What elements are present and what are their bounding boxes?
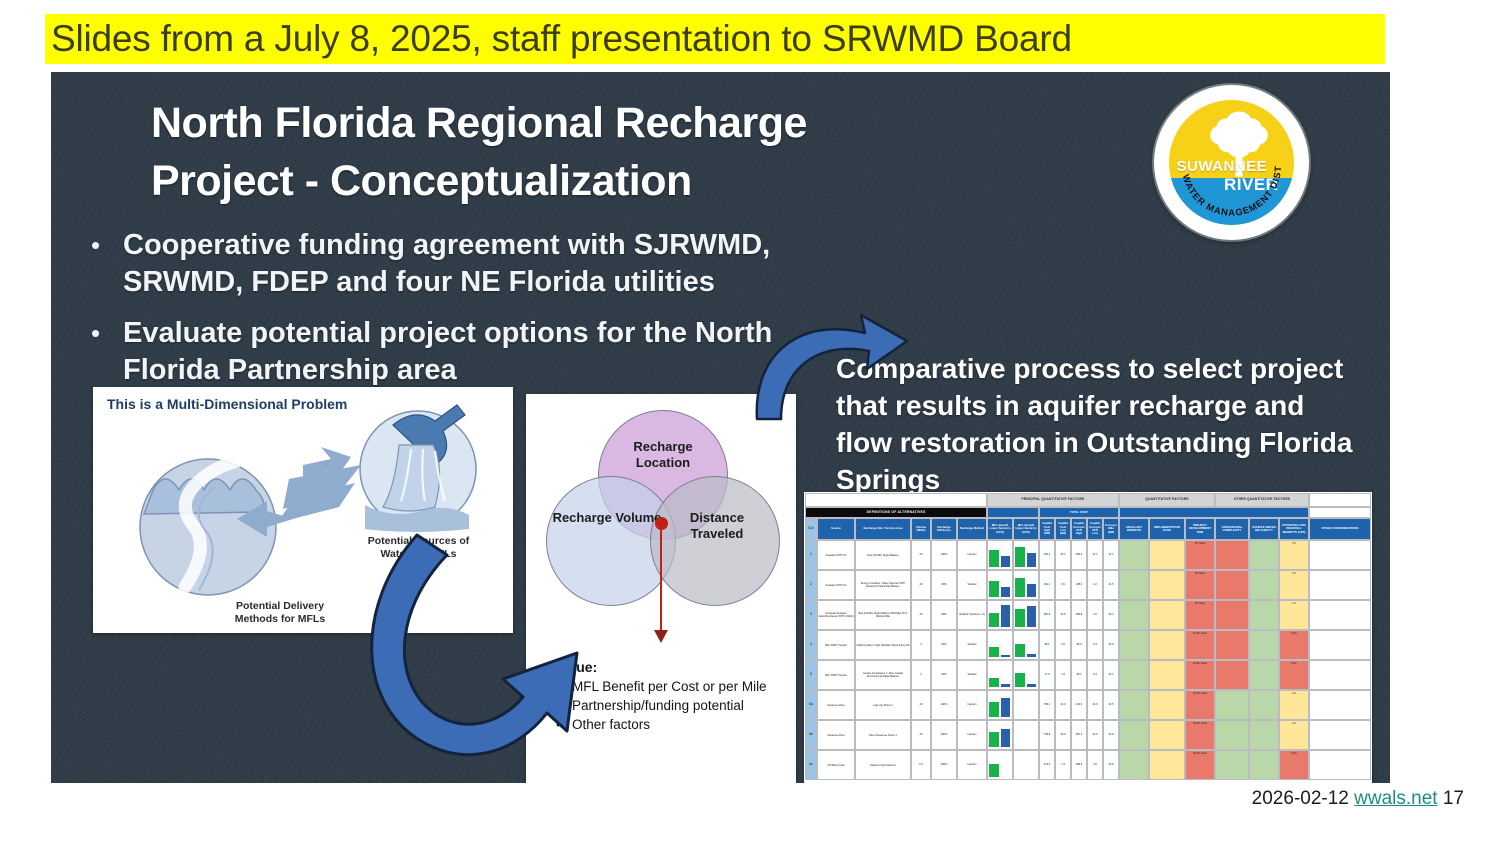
matrix-cell: 0.02: [1279, 630, 1309, 660]
matrix-cell: [1119, 750, 1149, 780]
matrix-cell: 19.9: [1055, 720, 1071, 750]
matrix-cell: 12.1: [1103, 540, 1119, 570]
matrix-cell: Injection: [957, 750, 987, 780]
matrix-cell: [1013, 690, 1039, 720]
small-curved-blue-arrow-icon: [741, 307, 921, 427]
matrix-cell: 20: [911, 540, 931, 570]
matrix-cell: Best Full MFL Target Balance: [855, 540, 911, 570]
matrix-cell: 90%: [931, 660, 957, 690]
matrix-cell: Greater Annual/open 1 - Mine Graded Envi…: [855, 660, 911, 690]
matrix-cell: 3: [805, 600, 817, 630]
matrix-cell: 0.3: [1087, 660, 1103, 690]
matrix-bar: [989, 678, 998, 687]
matrix-cell: [1215, 630, 1249, 660]
matrix-bar: [1015, 578, 1024, 598]
matrix-cell: 13.9: [1055, 690, 1071, 720]
matrix-bar: [989, 764, 998, 778]
matrix-cell: [1249, 600, 1279, 630]
matrix-cell: [1119, 690, 1149, 720]
matrix-bar: [1015, 673, 1024, 688]
matrix-row: 3Southeast Seawater Jacks/Weschester WTP…: [805, 600, 1371, 630]
matrix-cell: 40: [911, 690, 931, 720]
matrix-cell: [1013, 750, 1039, 780]
slide-title: North Florida Regional Recharge Project …: [151, 94, 1051, 210]
matrix-row: 4SRC SWFT TransferInitially Quality to H…: [805, 630, 1371, 660]
matrix-bar: [989, 702, 998, 718]
matrix-cell: [1309, 570, 1371, 600]
matrix-cell: 7.3: [1055, 750, 1071, 780]
matrix-cell: SOURCE WATER RELIABILITY: [1249, 518, 1279, 540]
matrix-cell: 0.4: [1279, 720, 1309, 750]
matrix-cell: 100%: [931, 690, 957, 720]
matrix-row: 5SRC SWFT TransferGreater Annual/open 1 …: [805, 660, 1371, 690]
matrix-cell: 2.5: [1055, 630, 1071, 660]
matrix-cell: 5.4: [1279, 570, 1309, 600]
matrix-cell: [1215, 720, 1249, 750]
matrix-cell: [1149, 660, 1185, 690]
matrix-cell: 396.8: [1071, 600, 1087, 630]
matrix-cell: [1149, 720, 1185, 750]
matrix-cell: [1119, 630, 1149, 660]
matrix-row: 1Seawater WTP TubBest Full MFL Target Ba…: [805, 540, 1371, 570]
matrix-cell: 23.5: [1103, 690, 1119, 720]
matrix-cell: 20 Years: [1185, 570, 1215, 600]
matrix-cell: Source: [817, 518, 855, 540]
matrix-cell: 20-30 Years: [1185, 690, 1215, 720]
matrix-cell: [1309, 690, 1371, 720]
matrix-bar: [1001, 556, 1010, 567]
matrix-row: 6aSuwannee RiverLake City Parcel 140100%…: [805, 690, 1371, 720]
matrix-cell: QUANTITATIVE FACTORS: [1119, 493, 1215, 507]
logo-ring-text: WATER MANAGEMENT DISTRICT: [1169, 100, 1294, 225]
footer-page-number: 17: [1443, 788, 1464, 809]
venn-intersection-node: [655, 517, 668, 530]
matrix-cell: [1215, 570, 1249, 600]
matrix-cell: MFL Benefit Upper Santa Fe (CFS): [1013, 518, 1039, 540]
matrix-cell: 198.3: [1071, 570, 1087, 600]
matrix-cell: 3: [911, 660, 931, 690]
matrix-cell: [1149, 540, 1185, 570]
matrix-cell: 80%: [931, 600, 957, 630]
matrix-row: 6cHF Black CreekSanta Fe High Influence5…: [805, 750, 1371, 780]
matrix-cell: 10-20 Years: [1185, 660, 1215, 690]
bullet-text: Evaluate potential project options for t…: [123, 315, 791, 389]
panel1-label-delivery: Potential Delivery Methods for MFLs: [215, 600, 345, 626]
matrix-bar: [1001, 655, 1010, 658]
matrix-cell: Suwannee River: [817, 720, 855, 750]
matrix-cell: Recharge Efficiency: [931, 518, 957, 540]
bullet-item-2: • Evaluate potential project options for…: [91, 315, 791, 389]
matrix-cell: 77.6: [1039, 660, 1055, 690]
matrix-cell: 100%: [931, 720, 957, 750]
matrix-cell: OTHER CONSIDERATIONS: [1309, 518, 1371, 540]
matrix-cell: [1013, 630, 1039, 660]
matrix-bar: [1015, 547, 1024, 567]
matrix-cell: [1309, 600, 1371, 630]
venn-label-recharge-location: Recharge Location: [608, 439, 718, 471]
matrix-cell: 21.8: [1103, 720, 1119, 750]
matrix-row: DEFINITIONS OF ALTERNATIVESTOTAL COST: [805, 507, 1371, 518]
matrix-cell: 6c: [805, 750, 817, 780]
matrix-cell: [1013, 720, 1039, 750]
matrix-cell: 100%: [931, 540, 957, 570]
matrix-cell: Wetland: [957, 630, 987, 660]
matrix-cell: [1119, 660, 1149, 690]
matrix-cell: 2: [805, 570, 817, 600]
matrix-cell: 90%: [931, 630, 957, 660]
matrix-cell: Recharge Site / Service Area: [855, 518, 911, 540]
matrix-cell: [1249, 690, 1279, 720]
matrix-cell: 20-30 Years: [1185, 750, 1215, 780]
matrix-cell: Injection: [957, 540, 987, 570]
matrix-cell: 32.1: [1103, 660, 1119, 690]
matrix-cell: 185.3: [1071, 540, 1087, 570]
matrix-cell: Wetland: [957, 660, 987, 690]
matrix-cell: [1013, 570, 1039, 600]
matrix-cell: Seawater WTP Tub: [817, 570, 855, 600]
matrix-cell: 5.3: [911, 750, 931, 780]
matrix-cell: Best Full MFL Target Balance WR Ridge PH…: [855, 600, 911, 630]
matrix-cell: ANCILLARY BENEFITS: [1119, 518, 1149, 540]
matrix-cell: [1309, 720, 1371, 750]
matrix-cell: 40: [911, 600, 931, 630]
matrix-cell: [987, 690, 1013, 720]
matrix-cell: [1215, 600, 1249, 630]
matrix-cell: POTENTIAL FOR REGIONAL BENEFITS (CFS): [1279, 518, 1309, 540]
matrix-cell: 12.1: [1087, 540, 1103, 570]
matrix-cell: 10-20 Years: [1185, 630, 1215, 660]
matrix-bar: [1015, 609, 1024, 627]
matrix-cell: 1.4: [1279, 600, 1309, 630]
yellow-highlight-banner: Slides from a July 8, 2025, staff presen…: [45, 14, 1385, 64]
matrix-cell: [1149, 690, 1185, 720]
bullet-list: • Cooperative funding agreement with SJR…: [91, 227, 791, 403]
bullet-text: Cooperative funding agreement with SJRWM…: [123, 227, 791, 301]
matrix-cell: [1309, 540, 1371, 570]
matrix-cell: 0.3: [1087, 630, 1103, 660]
matrix-cell: 2.5: [1279, 540, 1309, 570]
presentation-slide: North Florida Regional Recharge Project …: [51, 72, 1390, 783]
matrix-cell: 401.1: [1039, 570, 1055, 600]
matrix-bar: [1027, 654, 1036, 657]
matrix-grid: PRINCIPAL QUANTITATIVE FACTORSQUANTITATI…: [805, 493, 1371, 783]
matrix-cell: [1149, 600, 1185, 630]
matrix-cell: Wetland: [957, 570, 987, 600]
matrix-cell: 20-30 Years: [1185, 720, 1215, 750]
matrix-cell: [1309, 660, 1371, 690]
matrix-cell: [1249, 660, 1279, 690]
slide-title-line2: Project - Conceptualization: [151, 152, 1051, 210]
matrix-cell: PROJECT DEVELOPMENT TIME: [1185, 518, 1215, 540]
matrix-cell: 19.6: [1087, 690, 1103, 720]
matrix-cell: 196.1: [1039, 540, 1055, 570]
matrix-bar: [989, 732, 998, 747]
matrix-cell: 80%: [931, 570, 957, 600]
matrix-cell: 487.4: [1071, 720, 1087, 750]
alternatives-comparison-matrix: PRINCIPAL QUANTITATIVE FACTORSQUANTITATI…: [804, 492, 1372, 783]
matrix-cell: 6b: [805, 720, 817, 750]
matrix-cell: 9.9: [1055, 570, 1071, 600]
matrix-cell: 2.2: [1087, 570, 1103, 600]
bullet-marker: •: [91, 315, 123, 389]
matrix-cell: Wetland Treatment + Inj: [957, 600, 987, 630]
matrix-cell: PRINCIPAL QUANTITATIVE FACTORS: [987, 493, 1119, 507]
matrix-cell: 20: [911, 570, 931, 600]
matrix-cell: [1119, 570, 1149, 600]
matrix-cell: [1013, 540, 1039, 570]
matrix-cell: 1.9: [1055, 660, 1071, 690]
venn-label-distance-traveled: Distance Traveled: [662, 510, 772, 542]
banner-text: Slides from a July 8, 2025, staff presen…: [45, 19, 1072, 59]
matrix-cell: 272.0: [1039, 750, 1055, 780]
matrix-cell: 718.9: [1039, 720, 1055, 750]
svg-text:WATER MANAGEMENT DISTRICT: WATER MANAGEMENT DISTRICT: [1169, 100, 1283, 218]
matrix-cell: 786.1: [1039, 690, 1055, 720]
matrix-cell: 20 Years: [1185, 600, 1215, 630]
matrix-cell: [1149, 750, 1185, 780]
slide-title-line1: North Florida Regional Recharge: [151, 94, 1051, 152]
footer-date: 2026-02-12: [1252, 788, 1349, 809]
matrix-bar: [1015, 644, 1024, 657]
matrix-cell: SRC SWFT Transfer: [817, 660, 855, 690]
matrix-cell: 26.8: [1103, 750, 1119, 780]
matrix-cell: Santa Fe High Influence: [855, 750, 911, 780]
matrix-cell: 48.1: [1071, 660, 1087, 690]
matrix-bar: [1027, 606, 1036, 628]
matrix-cell: Recharge Method: [957, 518, 987, 540]
matrix-cell: 19.4: [1103, 600, 1119, 630]
matrix-cell: 42.5: [1103, 630, 1119, 660]
matrix-bar: [1001, 605, 1010, 627]
matrix-cell: [1149, 630, 1185, 660]
matrix-cell: [987, 540, 1013, 570]
matrix-cell: 100%: [931, 750, 957, 780]
matrix-cell: ID#: [805, 518, 817, 540]
matrix-cell: HF Black Creek: [817, 750, 855, 780]
matrix-cell: 41.5: [1055, 600, 1071, 630]
matrix-cell: [1309, 507, 1371, 518]
matrix-bar: [989, 647, 998, 658]
matrix-cell: [1119, 720, 1149, 750]
matrix-cell: Injection: [957, 720, 987, 750]
matrix-bar: [1027, 684, 1036, 687]
matrix-cell: [987, 720, 1013, 750]
matrix-row: ID#SourceRecharge Site / Service AreaVol…: [805, 518, 1371, 540]
matrix-cell: 52.1: [1055, 540, 1071, 570]
matrix-cell: 0.02: [1279, 750, 1309, 780]
matrix-row: PRINCIPAL QUANTITATIVE FACTORSQUANTITATI…: [805, 493, 1371, 507]
matrix-cell: [1215, 540, 1249, 570]
matrix-cell: 4.6: [1087, 600, 1103, 630]
venn-label-recharge-volume: Recharge Volume: [552, 510, 662, 526]
matrix-cell: [1215, 750, 1249, 780]
matrix-cell: Cost per Mile ($M): [1103, 518, 1119, 540]
matrix-cell: [987, 507, 1039, 518]
matrix-bar: [1027, 553, 1036, 567]
matrix-cell: [1249, 720, 1279, 750]
matrix-cell: [805, 493, 987, 507]
matrix-cell: [987, 630, 1013, 660]
matrix-cell: 98.1: [1039, 630, 1055, 660]
matrix-cell: SRC SWFT Transfer: [817, 630, 855, 660]
matrix-cell: 5: [805, 660, 817, 690]
matrix-cell: 1: [805, 540, 817, 570]
matrix-cell: [987, 660, 1013, 690]
bullet-marker: •: [91, 227, 123, 301]
matrix-bar: [1027, 584, 1036, 597]
matrix-bar: [989, 550, 998, 568]
matrix-cell: 4: [805, 630, 817, 660]
matrix-bar: [1001, 729, 1010, 748]
matrix-cell: 20 Years: [1185, 540, 1215, 570]
matrix-cell: OTHER QUANTITATIVE FACTORS: [1215, 493, 1309, 507]
matrix-cell: [1119, 600, 1149, 630]
matrix-cell: [1309, 493, 1371, 507]
matrix-cell: DEFINITIONS OF ALTERNATIVES: [805, 507, 987, 518]
matrix-cell: Initially Quality to High Utilization Mi…: [855, 630, 911, 660]
matrix-cell: Capital Cost High ($M): [1039, 518, 1055, 540]
matrix-cell: 6a: [805, 690, 817, 720]
matrix-cell: TOTAL COST: [1039, 507, 1119, 518]
matrix-bar: [1001, 684, 1010, 688]
matrix-cell: [1013, 660, 1039, 690]
matrix-cell: 3: [911, 630, 931, 660]
matrix-cell: [1013, 600, 1039, 630]
srwmd-logo: SUWANNEE RIVER WATER MANAGEMENT DISTRICT: [1154, 85, 1309, 240]
matrix-cell: [1309, 630, 1371, 660]
matrix-cell: [1215, 690, 1249, 720]
matrix-cell: 4.6: [1087, 750, 1103, 780]
matrix-cell: Energy Innovation / Water Selection WTP …: [855, 570, 911, 600]
venn-pointer-arrowhead-icon: [654, 630, 668, 643]
matrix-cell: IMPLEMENTATION EASE: [1149, 518, 1185, 540]
matrix-cell: Direct Suwannee Parcel 1: [855, 720, 911, 750]
matrix-cell: Injection: [957, 690, 987, 720]
large-curved-blue-arrow-icon: [351, 527, 621, 777]
matrix-cell: Capital Cost per CFS Low: [1087, 518, 1103, 540]
matrix-cell: 423.9: [1071, 690, 1087, 720]
matrix-cell: 80.3: [1071, 630, 1087, 660]
matrix-cell: 288.5: [1071, 750, 1087, 780]
matrix-cell: Southeast Seawater Jacks/Weschester WTP …: [817, 600, 855, 630]
matrix-cell: [1249, 630, 1279, 660]
matrix-cell: 40: [911, 720, 931, 750]
bullet-item-1: • Cooperative funding agreement with SJR…: [91, 227, 791, 301]
matrix-cell: [1249, 750, 1279, 780]
matrix-cell: [1249, 540, 1279, 570]
matrix-cell: Seawater WTP Tub: [817, 540, 855, 570]
matrix-cell: OPERATIONAL COMPLEXITY: [1215, 518, 1249, 540]
matrix-cell: [1149, 570, 1185, 600]
matrix-cell: MFL Benefit Lower Santa Fe (CFS): [987, 518, 1013, 540]
matrix-cell: Lake City Parcel 1: [855, 690, 911, 720]
matrix-cell: Volume (MGD): [911, 518, 931, 540]
matrix-cell: [1215, 660, 1249, 690]
matrix-cell: Suwannee River: [817, 690, 855, 720]
matrix-bar: [1001, 587, 1010, 598]
matrix-row: 2Seawater WTP TubEnergy Innovation / Wat…: [805, 570, 1371, 600]
matrix-cell: [987, 750, 1013, 780]
matrix-cell: Capital Cost Low ($M): [1055, 518, 1071, 540]
matrix-cell: [987, 570, 1013, 600]
matrix-cell: 14.6: [1087, 720, 1103, 750]
matrix-cell: [1249, 570, 1279, 600]
matrix-bar: [989, 581, 998, 598]
matrix-cell: 387.6: [1039, 600, 1055, 630]
matrix-cell: [1309, 750, 1371, 780]
footer: 2026-02-12 wwals.net 17: [1252, 788, 1464, 810]
matrix-row: 6bSuwannee RiverDirect Suwannee Parcel 1…: [805, 720, 1371, 750]
matrix-cell: 0.02: [1279, 660, 1309, 690]
wwals-link[interactable]: wwals.net: [1354, 788, 1437, 809]
logo-disc: SUWANNEE RIVER WATER MANAGEMENT DISTRICT: [1169, 100, 1294, 225]
matrix-cell: 0.4: [1279, 690, 1309, 720]
matrix-cell: Capital Cost per CFS High: [1071, 518, 1087, 540]
matrix-bar: [1001, 698, 1010, 717]
matrix-cell: [1119, 507, 1309, 518]
matrix-cell: 21.5: [1103, 570, 1119, 600]
matrix-cell: [1119, 540, 1149, 570]
matrix-cell: [987, 600, 1013, 630]
matrix-bar: [989, 613, 998, 628]
